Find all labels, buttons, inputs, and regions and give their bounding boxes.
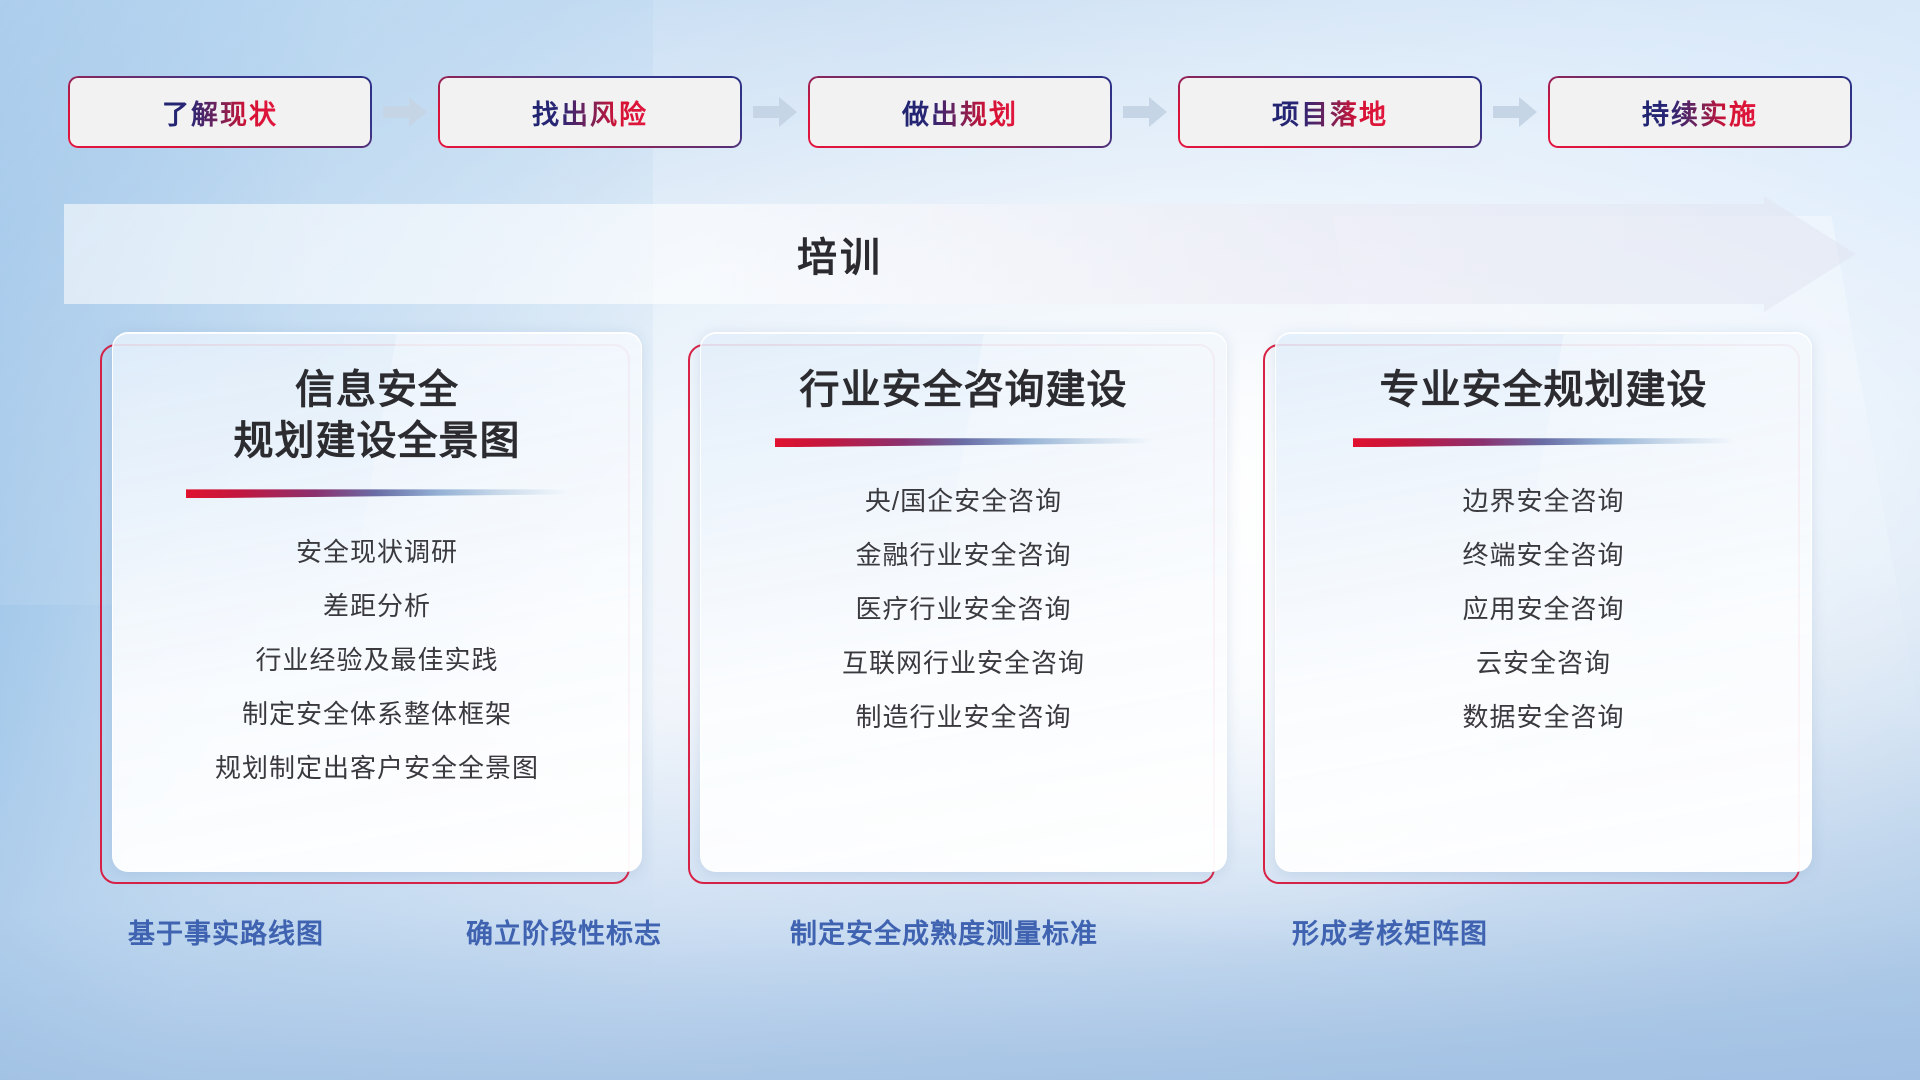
card-row: 信息安全 规划建设全景图 安全现状调研 差距分析 行业经验及最佳实践 制定安全体… bbox=[0, 332, 1920, 872]
step-chip-1[interactable]: 了解现状 bbox=[68, 76, 372, 148]
card-title: 行业安全咨询建设 bbox=[800, 365, 1128, 416]
list-item: 规划制定出客户安全全景图 bbox=[215, 748, 539, 785]
step-chip-2[interactable]: 找出风险 bbox=[438, 76, 742, 148]
right-arrow-icon bbox=[1123, 95, 1167, 129]
card-divider bbox=[186, 489, 568, 498]
card-divider bbox=[1353, 438, 1735, 447]
right-arrow-icon bbox=[383, 95, 427, 129]
list-item: 应用安全咨询 bbox=[1462, 589, 1624, 626]
right-arrow-icon bbox=[753, 95, 797, 129]
training-banner-label: 培训 bbox=[0, 196, 1736, 312]
caption-1: 基于事实路线图 bbox=[128, 912, 324, 951]
card-body[interactable]: 行业安全咨询建设 央/国企安全咨询 金融行业安全咨询 医疗行业安全咨询 互联网行… bbox=[700, 332, 1227, 872]
step-chip-4[interactable]: 项目落地 bbox=[1178, 76, 1482, 148]
card-1[interactable]: 信息安全 规划建设全景图 安全现状调研 差距分析 行业经验及最佳实践 制定安全体… bbox=[112, 332, 642, 872]
card-item-list: 央/国企安全咨询 金融行业安全咨询 医疗行业安全咨询 互联网行业安全咨询 制造行… bbox=[842, 481, 1085, 734]
caption-row: 基于事实路线图 确立阶段性标志 制定安全成熟度测量标准 形成考核矩阵图 bbox=[0, 912, 1920, 962]
card-item-list: 安全现状调研 差距分析 行业经验及最佳实践 制定安全体系整体框架 规划制定出客户… bbox=[215, 532, 539, 785]
caption-4: 形成考核矩阵图 bbox=[1292, 912, 1488, 951]
step-label: 了解现状 bbox=[162, 93, 278, 132]
list-item: 央/国企安全咨询 bbox=[865, 481, 1062, 518]
list-item: 差距分析 bbox=[323, 586, 431, 623]
list-item: 制造行业安全咨询 bbox=[855, 697, 1071, 734]
list-item: 终端安全咨询 bbox=[1462, 535, 1624, 572]
step-chip-5[interactable]: 持续实施 bbox=[1548, 76, 1852, 148]
list-item: 金融行业安全咨询 bbox=[855, 535, 1071, 572]
card-item-list: 边界安全咨询 终端安全咨询 应用安全咨询 云安全咨询 数据安全咨询 bbox=[1462, 481, 1624, 734]
caption-3: 制定安全成熟度测量标准 bbox=[790, 912, 1098, 951]
card-divider bbox=[775, 438, 1153, 447]
card-title: 信息安全 规划建设全景图 bbox=[234, 365, 521, 467]
step-chip-3[interactable]: 做出规划 bbox=[808, 76, 1112, 148]
list-item: 互联网行业安全咨询 bbox=[842, 643, 1085, 680]
card-3[interactable]: 专业安全规划建设 边界安全咨询 终端安全咨询 应用安全咨询 云安全咨询 数据安全… bbox=[1275, 332, 1812, 872]
card-body[interactable]: 信息安全 规划建设全景图 安全现状调研 差距分析 行业经验及最佳实践 制定安全体… bbox=[112, 332, 642, 872]
process-step-row: 了解现状 找出风险 做出规划 项目落地 bbox=[68, 76, 1852, 148]
list-item: 边界安全咨询 bbox=[1462, 481, 1624, 518]
card-2[interactable]: 行业安全咨询建设 央/国企安全咨询 金融行业安全咨询 医疗行业安全咨询 互联网行… bbox=[700, 332, 1227, 872]
list-item: 数据安全咨询 bbox=[1462, 697, 1624, 734]
list-item: 行业经验及最佳实践 bbox=[255, 640, 498, 677]
slide-stage: 了解现状 找出风险 做出规划 项目落地 bbox=[0, 0, 1920, 1080]
step-label: 做出规划 bbox=[902, 93, 1018, 132]
training-banner: 培训 bbox=[64, 196, 1856, 312]
right-arrow-icon bbox=[1493, 95, 1537, 129]
list-item: 制定安全体系整体框架 bbox=[242, 694, 512, 731]
card-title: 专业安全规划建设 bbox=[1380, 365, 1708, 416]
list-item: 医疗行业安全咨询 bbox=[855, 589, 1071, 626]
caption-2: 确立阶段性标志 bbox=[466, 912, 662, 951]
list-item: 安全现状调研 bbox=[296, 532, 458, 569]
list-item: 云安全咨询 bbox=[1476, 643, 1611, 680]
step-label: 找出风险 bbox=[532, 93, 648, 132]
card-body[interactable]: 专业安全规划建设 边界安全咨询 终端安全咨询 应用安全咨询 云安全咨询 数据安全… bbox=[1275, 332, 1812, 872]
step-label: 项目落地 bbox=[1272, 93, 1388, 132]
step-label: 持续实施 bbox=[1642, 93, 1758, 132]
